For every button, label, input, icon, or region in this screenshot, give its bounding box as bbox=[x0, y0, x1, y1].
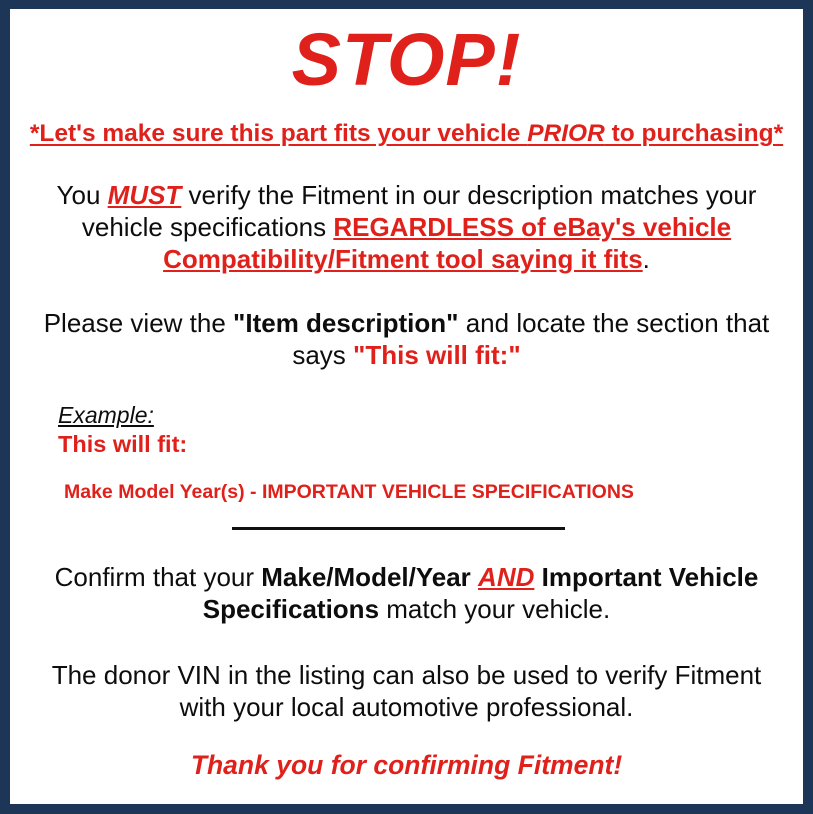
view-emphasis-item-description: "Item description" bbox=[233, 308, 458, 338]
view-text-part1: Please view the bbox=[44, 308, 233, 338]
confirm-text-part1: Confirm that your bbox=[55, 562, 262, 592]
paragraph-donor-vin: The donor VIN in the listing can also be… bbox=[24, 660, 789, 723]
paragraph-must-verify: You MUST verify the Fitment in our descr… bbox=[24, 180, 789, 275]
stop-title: STOP! bbox=[24, 23, 789, 97]
must-text-part3: . bbox=[643, 244, 650, 274]
paragraph-confirm: Confirm that your Make/Model/Year AND Im… bbox=[24, 562, 789, 625]
thanks-message: Thank you for confirming Fitment! bbox=[24, 750, 789, 782]
subtitle-text-part1: *Let's make sure this part fits your veh… bbox=[30, 120, 527, 147]
subtitle-text-part2: to purchasing* bbox=[605, 120, 783, 147]
divider-line bbox=[232, 527, 565, 530]
subtitle-emphasis-prior: PRIOR bbox=[527, 120, 605, 147]
notice-frame: STOP! *Let's make sure this part fits yo… bbox=[0, 0, 813, 814]
must-emphasis-must: MUST bbox=[108, 180, 182, 210]
must-text-part1: You bbox=[57, 180, 108, 210]
divider bbox=[24, 527, 789, 541]
example-fit-heading: This will fit: bbox=[58, 430, 789, 458]
confirm-text-part4: match your vehicle. bbox=[379, 594, 610, 624]
confirm-emphasis-make-model-year: Make/Model/Year bbox=[261, 562, 471, 592]
confirm-emphasis-and: AND bbox=[478, 562, 534, 592]
example-spec-line: Make Model Year(s) - IMPORTANT VEHICLE S… bbox=[64, 481, 789, 504]
notice-subtitle: *Let's make sure this part fits your veh… bbox=[24, 120, 789, 148]
example-block: Example: This will fit: Make Model Year(… bbox=[24, 402, 789, 505]
example-label: Example: bbox=[58, 402, 789, 428]
notice-card: STOP! *Let's make sure this part fits yo… bbox=[10, 9, 803, 804]
paragraph-item-description: Please view the "Item description" and l… bbox=[24, 308, 789, 371]
confirm-space1 bbox=[471, 562, 478, 592]
view-emphasis-this-will-fit: "This will fit:" bbox=[353, 340, 521, 370]
confirm-space2 bbox=[534, 562, 541, 592]
